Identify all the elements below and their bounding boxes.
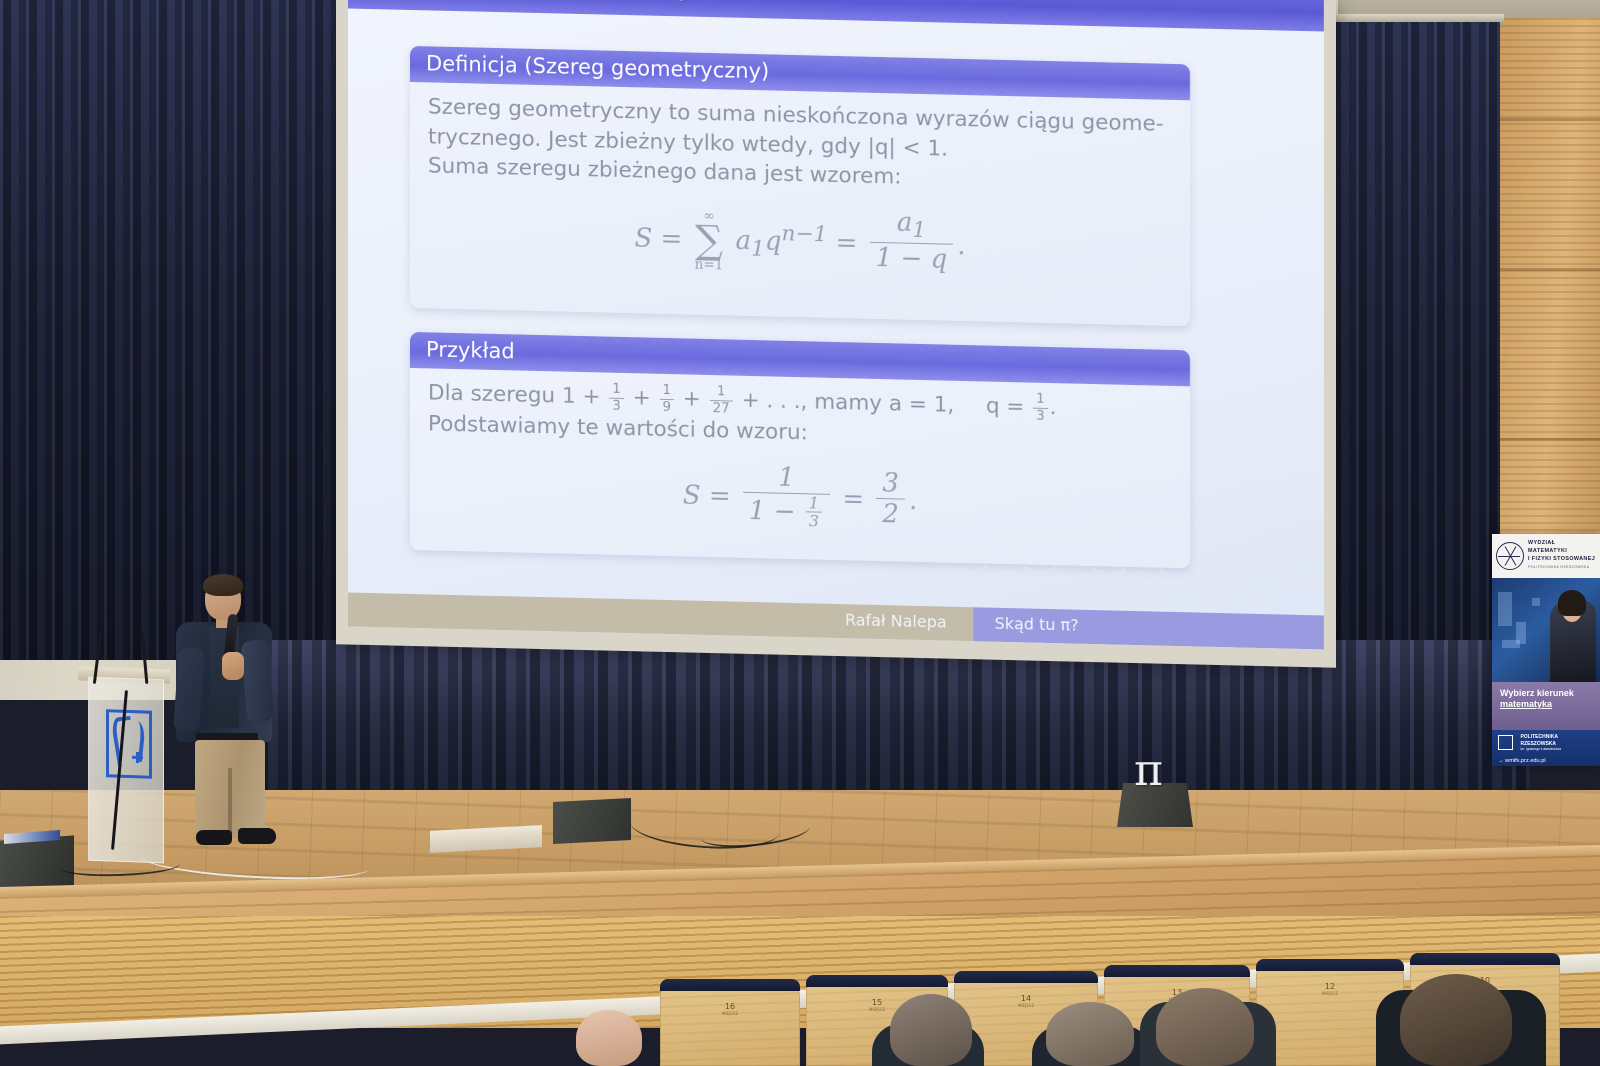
- banner-university-line-2: RZESZOWSKA: [1520, 741, 1561, 747]
- seat-14-number-value: 14: [1021, 994, 1031, 1003]
- banner-university-line-3: im. Ignacego Łukasiewicza: [1520, 747, 1561, 751]
- ratio-q-value: 1 3: [1033, 393, 1047, 424]
- university-logo-icon: [1498, 735, 1513, 750]
- closed-form-fraction: a1 1 − q: [870, 208, 954, 276]
- banner-call-to-action: Wybierz kierunek matematyka: [1492, 682, 1600, 730]
- banner-header: WYDZIAŁ MATEMATYKI I FIZYKI STOSOWANEJ P…: [1492, 534, 1600, 578]
- term2-num: 1: [660, 384, 674, 400]
- pi-sculpture: π: [1134, 756, 1178, 790]
- example-text-b: + . . ., mamy a = 1,: [742, 388, 955, 418]
- seat-15-number-value: 15: [872, 998, 882, 1007]
- summation-operator: ∞ ∑ n=1: [695, 209, 724, 273]
- definition-block-body: Szereg geometryczny to suma nieskończona…: [410, 82, 1190, 302]
- den-frac-den: 3: [806, 513, 822, 532]
- example-text-c: q =: [986, 394, 1025, 420]
- term1-den: 3: [609, 398, 623, 414]
- banner-university-name: POLITECHNIKA RZESZOWSKA im. Ignacego Łuk…: [1520, 734, 1561, 751]
- audience-head-bald: [576, 1010, 642, 1066]
- seat-16-cushion-top: [660, 979, 800, 991]
- banner-photo: [1492, 578, 1600, 682]
- banner-cta-line-1: Wybierz kierunek: [1500, 688, 1594, 699]
- audience-head-3: [1156, 988, 1254, 1066]
- example-fraction-numerator: 1: [743, 462, 830, 494]
- formula-term-a-subscript: 1: [751, 236, 765, 261]
- seat-14-cushion-top: [954, 971, 1098, 983]
- example-formula-equals-2: =: [842, 484, 864, 515]
- seat-13-cushion-top: [1104, 965, 1250, 977]
- speaker-hands: [222, 652, 244, 680]
- banner-faculty-line-3: I FIZYKI STOSOWANEJ: [1528, 556, 1595, 564]
- series-term-one-ninth: 1 9: [660, 384, 674, 415]
- sigma-lower-limit: n=1: [695, 259, 724, 273]
- term1-num: 1: [609, 383, 623, 399]
- seat-12-number: 12 MIEJSCE: [1256, 982, 1404, 996]
- q-den: 3: [1033, 408, 1047, 424]
- example-result-fraction: 3 2: [876, 469, 905, 530]
- rollup-banner: WYDZIAŁ MATEMATYKI I FIZYKI STOSOWANEJ P…: [1492, 534, 1600, 766]
- curtain-left: [0, 0, 352, 660]
- audience-head-2: [1046, 1002, 1134, 1066]
- example-fraction-denominator: 1 − 1 3: [743, 493, 830, 532]
- banner-faculty-line-4: POLITECHNIKA RZESZOWSKA: [1528, 565, 1590, 569]
- fraction-numerator-subscript: 1: [912, 218, 926, 243]
- seat-15-cushion-top: [806, 975, 948, 987]
- seat-12-number-value: 12: [1325, 982, 1335, 991]
- fraction-numerator-a: a: [897, 207, 913, 237]
- banner-cta-line-2: matematyka: [1500, 699, 1594, 710]
- seat-16-number-value: 16: [725, 1002, 735, 1011]
- speaker-right-shoe: [238, 828, 276, 844]
- lecture-hall-photo: Szereg geometryczny Definicja (Szereg ge…: [0, 0, 1600, 1066]
- result-numerator: 3: [876, 469, 905, 500]
- q-num: 1: [1033, 393, 1047, 409]
- term3-num: 1: [710, 385, 733, 401]
- banner-person-hair: [1558, 590, 1586, 616]
- formula-term-q: q: [765, 226, 782, 256]
- banner-faculty-line-2: MATEMATYKI: [1528, 548, 1595, 556]
- seat-16: 16 MIEJSCE: [660, 988, 800, 1066]
- seat-12-number-sub: MIEJSCE: [1256, 991, 1404, 996]
- example-text-d: .: [1050, 395, 1057, 420]
- logo-cross-icon: [132, 752, 143, 763]
- projected-slide: Szereg geometryczny Definicja (Szereg ge…: [348, 0, 1324, 650]
- formula-equals-2: =: [836, 228, 858, 259]
- stage-monitor-speaker-center: [553, 798, 631, 844]
- speaker-leg-seam: [228, 768, 232, 838]
- seat-12-cushion-top: [1256, 959, 1404, 971]
- audience-head-4: [1400, 974, 1512, 1066]
- speaker-hair: [203, 574, 243, 596]
- formula-period: .: [957, 231, 965, 261]
- banner-footer: POLITECHNIKA RZESZOWSKA im. Ignacego Łuk…: [1492, 730, 1600, 766]
- denominator-one-third: 1 3: [806, 494, 822, 532]
- term2-den: 9: [660, 399, 674, 415]
- denominator-lead: 1 −: [749, 496, 796, 527]
- geometric-series-formula: S = ∞ ∑ n=1 a1qn−1 = a1 1 − q .: [428, 197, 1172, 283]
- audience-head-1: [890, 994, 972, 1066]
- sigma-symbol: ∑: [695, 223, 724, 260]
- seat-16-number-sub: MIEJSCE: [660, 1011, 800, 1016]
- definition-block: Definicja (Szereg geometryczny) Szereg g…: [410, 46, 1190, 326]
- banner-website-url: → wmifs.prz.edu.pl: [1498, 758, 1594, 764]
- den-frac-num: 1: [806, 494, 822, 513]
- example-formula-equals-1: =: [709, 480, 731, 511]
- banner-faculty-text: WYDZIAŁ MATEMATYKI I FIZYKI STOSOWANEJ P…: [1524, 540, 1595, 571]
- banner-university-line-1: POLITECHNIKA: [1520, 734, 1558, 740]
- example-block-body: Dla szeregu 1 + 1 3 + 1 9 + 1: [410, 368, 1190, 558]
- fraction-denominator: 1 − q: [870, 243, 954, 276]
- seat-10-cushion-top: [1410, 953, 1560, 965]
- example-sum-formula: S = 1 1 − 1 3 =: [428, 455, 1172, 540]
- example-formula-lhs: S: [683, 480, 701, 510]
- example-formula-period: .: [909, 485, 917, 515]
- series-term-one-third: 1 3: [609, 383, 623, 414]
- formula-term-q-exponent: n−1: [782, 221, 828, 247]
- seat-16-number: 16 MIEJSCE: [660, 1002, 800, 1016]
- politechnika-rzeszowska-logo-icon: [106, 709, 152, 779]
- beamer-navigation-symbols[interactable]: ◀ ❑ ▶ ◀ ❐ ▶ ◀ ☰ ▶ ◀ ☰ ▶ ☰: [976, 559, 1268, 584]
- series-term-one-27th: 1 27: [710, 385, 733, 417]
- example-block: Przykład Dla szeregu 1 + 1 3 + 1 9 +: [410, 332, 1190, 568]
- formula-equals-1: =: [661, 224, 683, 255]
- series-plus-2: +: [683, 386, 701, 411]
- series-plus-1: +: [633, 385, 651, 410]
- slide-footer-author: Rafał Nalepa: [348, 592, 973, 632]
- formula-lhs: S: [635, 223, 653, 253]
- speaker-left-shoe: [196, 830, 232, 845]
- example-main-fraction: 1 1 − 1 3: [743, 462, 830, 531]
- example-text-a: Dla szeregu 1 +: [428, 380, 600, 409]
- formula-term-a: a: [736, 226, 752, 256]
- result-denominator: 2: [876, 499, 905, 530]
- faculty-emblem-icon: [1496, 542, 1524, 570]
- slide-footer-talk-title: Skąd tu π?: [973, 607, 1324, 640]
- term3-den: 27: [710, 401, 733, 417]
- slide-title-bar: [348, 0, 1324, 32]
- fraction-numerator: a1: [870, 208, 954, 245]
- banner-faculty-line-1: WYDZIAŁ: [1528, 540, 1595, 548]
